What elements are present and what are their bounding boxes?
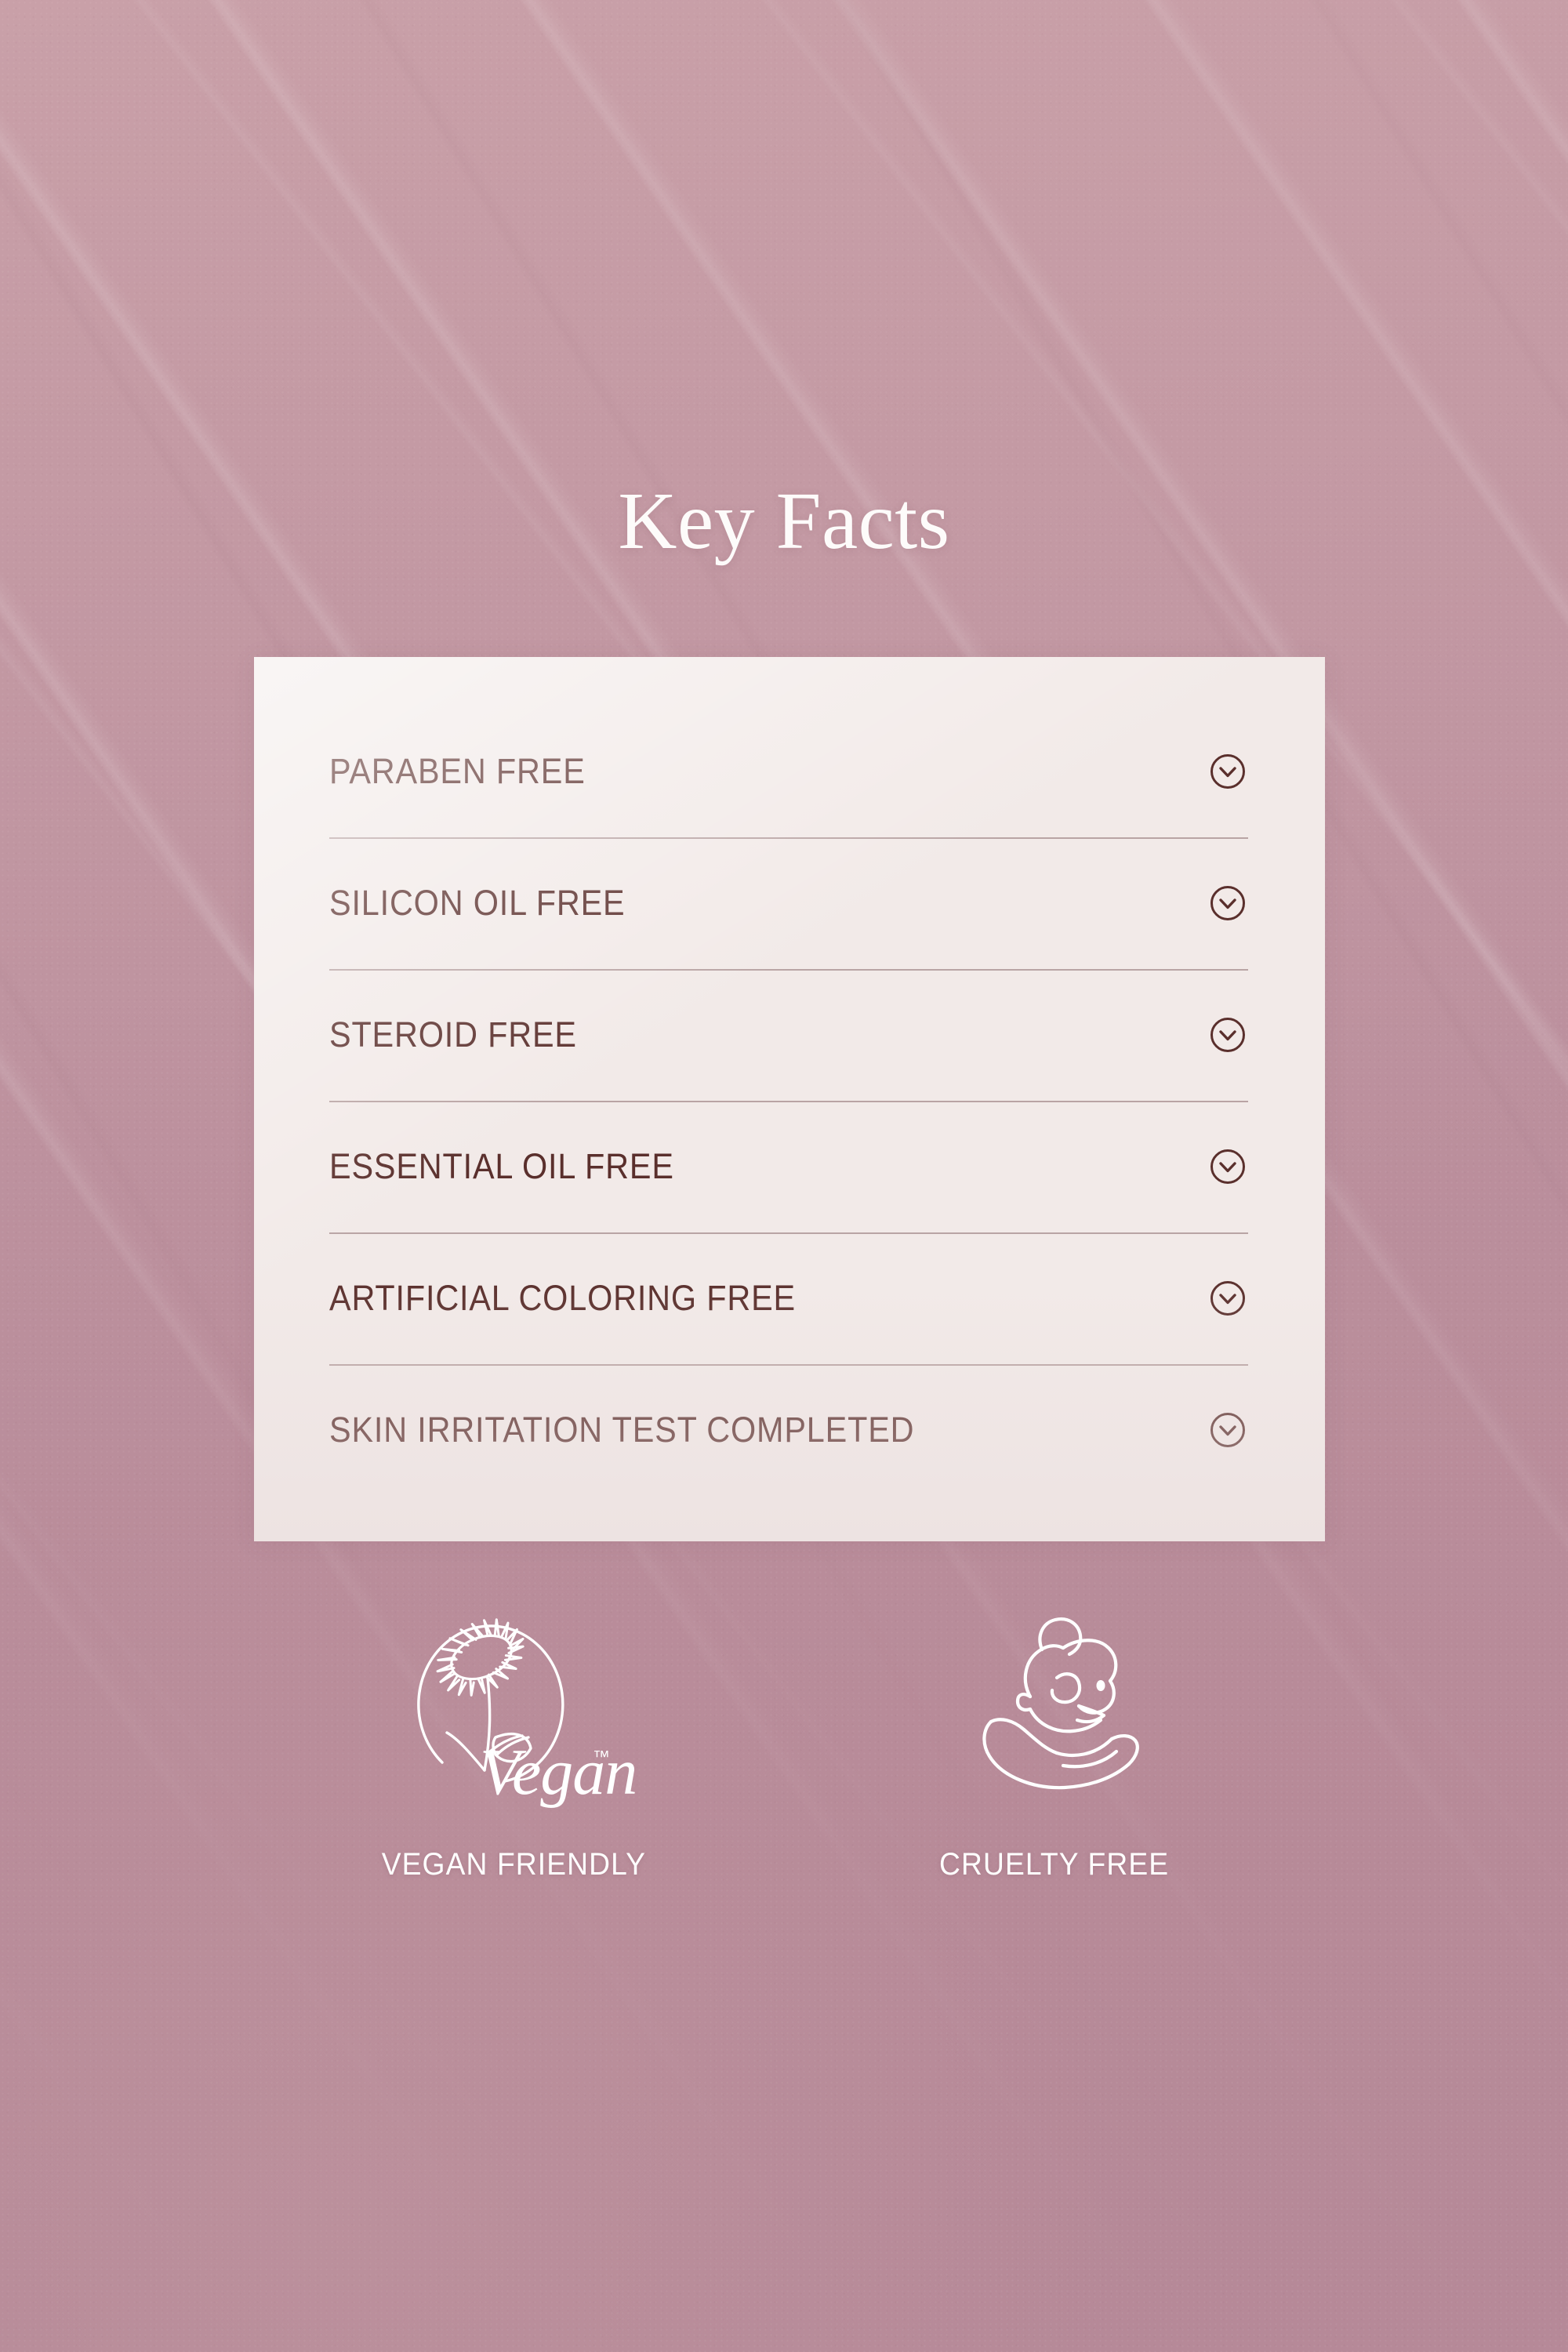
key-facts-panel: Key Facts PARABEN FREE SILICON OIL FREE … [0, 0, 1568, 2352]
fact-label: PARABEN FREE [329, 751, 586, 792]
key-facts-card: PARABEN FREE SILICON OIL FREE STEROID FR… [254, 657, 1325, 1541]
fact-row-essential-oil-free: ESSENTIAL OIL FREE [329, 1101, 1250, 1232]
page-title: Key Facts [0, 478, 1568, 564]
check-circle-icon [1209, 1279, 1247, 1317]
fact-row-skin-irritation-test-completed: SKIN IRRITATION TEST COMPLETED [329, 1364, 1250, 1496]
fact-row-steroid-free: STEROID FREE [329, 969, 1250, 1101]
check-circle-icon [1209, 753, 1247, 790]
fact-row-paraben-free: PARABEN FREE [329, 706, 1250, 837]
badge-vegan-friendly: Vegan ™ VEGAN FRIENDLY [349, 1584, 678, 1882]
check-circle-icon [1209, 1016, 1247, 1054]
fact-label: ESSENTIAL OIL FREE [329, 1146, 674, 1187]
fact-label: STEROID FREE [329, 1014, 577, 1055]
vegan-society-sunflower-icon: Vegan ™ [387, 1584, 630, 1811]
fact-label: ARTIFICIAL COLORING FREE [329, 1278, 796, 1319]
badge-cruelty-free: CRUELTY FREE [890, 1584, 1219, 1882]
fact-row-silicon-oil-free: SILICON OIL FREE [329, 837, 1250, 969]
badge-label-cruelty-free: CRUELTY FREE [939, 1847, 1169, 1882]
trademark-symbol: ™ [593, 1747, 610, 1766]
fact-label: SKIN IRRITATION TEST COMPLETED [329, 1410, 914, 1450]
fact-label: SILICON OIL FREE [329, 883, 626, 924]
certification-badges: Vegan ™ VEGAN FRIENDLY [0, 1584, 1568, 1882]
check-circle-icon [1209, 1148, 1247, 1185]
check-circle-icon [1209, 1411, 1247, 1449]
key-facts-list: PARABEN FREE SILICON OIL FREE STEROID FR… [329, 706, 1250, 1496]
leaping-bunny-in-hand-icon [938, 1579, 1181, 1806]
vegan-wordmark: Vegan [480, 1736, 637, 1809]
badge-label-vegan-friendly: VEGAN FRIENDLY [381, 1847, 645, 1882]
check-circle-icon [1209, 884, 1247, 922]
fact-row-artificial-coloring-free: ARTIFICIAL COLORING FREE [329, 1232, 1250, 1364]
